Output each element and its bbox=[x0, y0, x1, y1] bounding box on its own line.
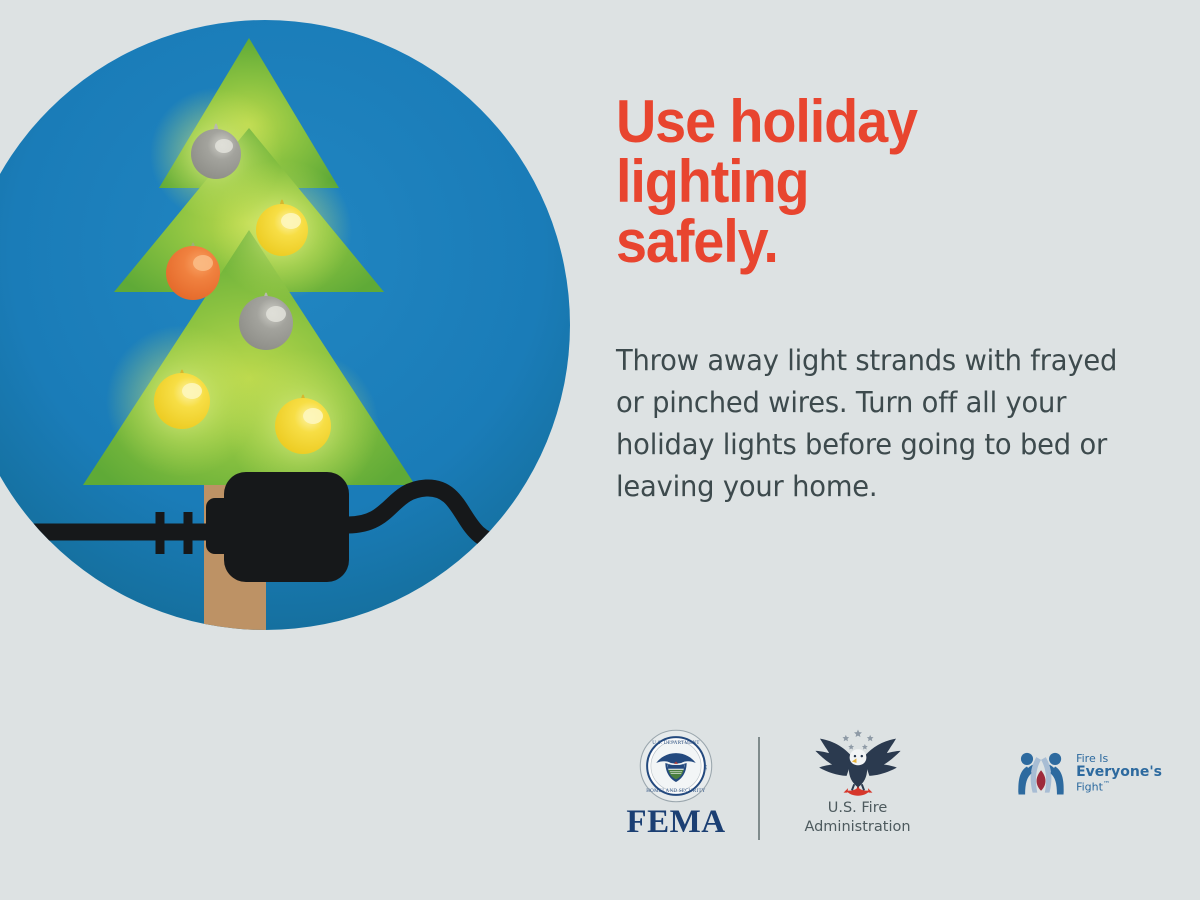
agency-logo-bar: U.S. DEPARTMENT HOMELAND SECURITY OF FEM… bbox=[600, 728, 1160, 868]
fema-logo: U.S. DEPARTMENT HOMELAND SECURITY OF FEM… bbox=[616, 728, 736, 839]
fief-trademark: ™ bbox=[1103, 780, 1110, 788]
fief-wordmark: Fire Is Everyone's Fight™ bbox=[1076, 753, 1162, 794]
message-block: Use holiday lighting safely. Throw away … bbox=[616, 92, 1156, 508]
body-text: Throw away light strands with frayed or … bbox=[616, 272, 1134, 508]
usfa-logo: U.S. Fire Administration bbox=[790, 728, 925, 836]
stars-shape bbox=[842, 730, 873, 750]
usfa-eagle-icon bbox=[812, 728, 904, 798]
fief-line1: Fire Is bbox=[1076, 753, 1162, 765]
dhs-seal-icon: U.S. DEPARTMENT HOMELAND SECURITY OF bbox=[638, 728, 714, 804]
fief-line3: Fight bbox=[1076, 780, 1103, 793]
svg-text:OF: OF bbox=[703, 765, 708, 771]
svg-text:HOMELAND SECURITY: HOMELAND SECURITY bbox=[646, 789, 706, 794]
holiday-tree-illustration bbox=[0, 20, 570, 630]
poster-canvas: Use holiday lighting safely. Throw away … bbox=[0, 0, 1200, 900]
svg-text:U.S. DEPARTMENT: U.S. DEPARTMENT bbox=[652, 741, 700, 746]
fief-line2: Everyone's bbox=[1076, 765, 1162, 781]
fire-is-everyones-fight-logo: Fire Is Everyone's Fight™ bbox=[1012, 746, 1162, 800]
fema-wordmark: FEMA bbox=[616, 806, 736, 839]
usfa-name-line1: U.S. Fire bbox=[790, 800, 925, 817]
flame-shape bbox=[1037, 770, 1046, 791]
logo-divider bbox=[758, 737, 760, 840]
page-title: Use holiday lighting safely. bbox=[616, 92, 1118, 272]
figure-head-right bbox=[1049, 753, 1061, 765]
eagle-head-shape bbox=[849, 749, 866, 765]
fief-line3-wrap: Fight™ bbox=[1076, 781, 1162, 794]
fief-people-flame-icon bbox=[1012, 746, 1070, 800]
figure-head-left bbox=[1021, 753, 1033, 765]
plug-body bbox=[206, 472, 349, 582]
usfa-name-line2: Administration bbox=[790, 819, 925, 836]
